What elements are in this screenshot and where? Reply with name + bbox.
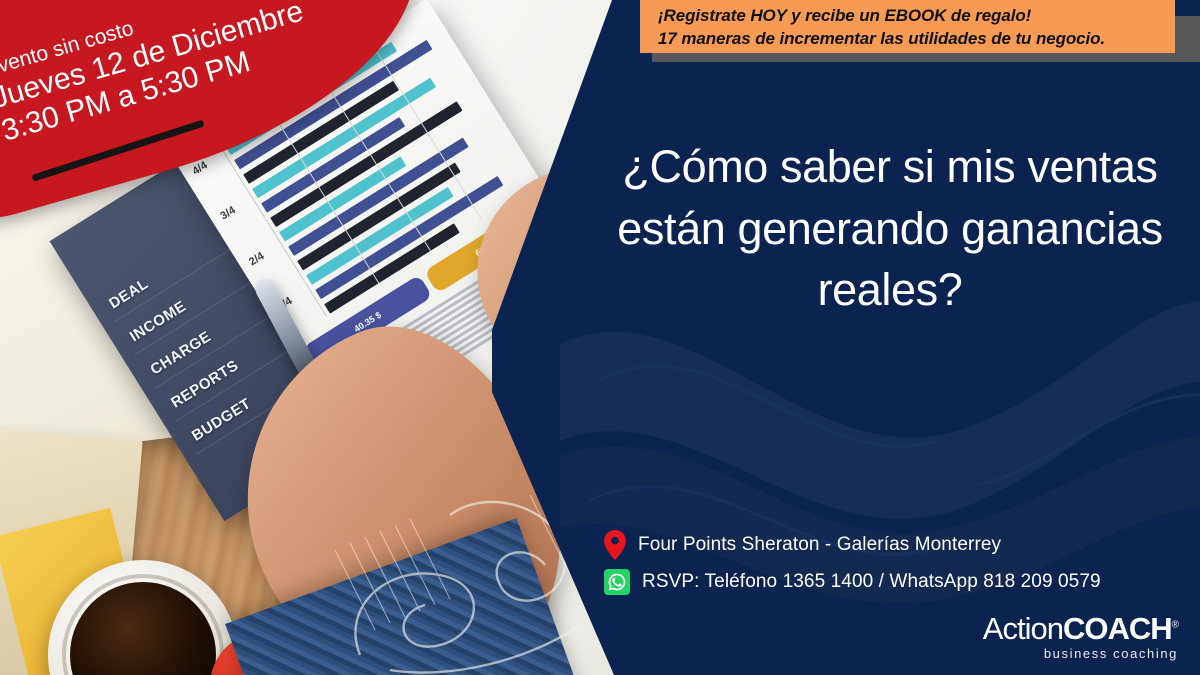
logo-word-bold: COACH bbox=[1063, 611, 1172, 646]
promo-banner-line-2: 17 maneras de incrementar las utilidades… bbox=[658, 28, 1175, 50]
venue-text: Four Points Sheraton - Galerías Monterre… bbox=[638, 534, 1001, 556]
contact-block: Four Points Sheraton - Galerías Monterre… bbox=[604, 530, 1194, 595]
rsvp-row: RSVP: Teléfono 1365 1400 / WhatsApp 818 … bbox=[604, 569, 1194, 595]
registered-trademark-icon: ® bbox=[1172, 620, 1178, 631]
page-title: ¿Cómo saber si mis ventas están generand… bbox=[594, 136, 1186, 321]
axis-tick: 2/4 bbox=[247, 243, 277, 268]
coffee-cup bbox=[48, 560, 238, 675]
rsvp-text: RSVP: Teléfono 1365 1400 / WhatsApp 818 … bbox=[642, 571, 1101, 593]
axis-tick: 3/4 bbox=[219, 198, 249, 223]
menu-item-label: DEAL bbox=[106, 275, 151, 312]
logo-word-light: Action bbox=[983, 611, 1063, 646]
venue-row: Four Points Sheraton - Galerías Monterre… bbox=[604, 530, 1194, 560]
promo-banner-line-1: ¡Registrate HOY y recibe un EBOOK de reg… bbox=[658, 5, 1175, 27]
logo-wordmark: ActionCOACH® bbox=[983, 613, 1178, 644]
flyer-canvas: DEAL INCOME CHARGE REPORTS bbox=[0, 0, 1200, 675]
actioncoach-logo: ActionCOACH® business coaching bbox=[983, 613, 1178, 661]
whatsapp-icon bbox=[604, 569, 630, 595]
promo-banner: ¡Registrate HOY y recibe un EBOOK de reg… bbox=[640, 0, 1175, 53]
logo-tagline: business coaching bbox=[983, 646, 1178, 661]
location-pin-icon bbox=[604, 530, 626, 560]
